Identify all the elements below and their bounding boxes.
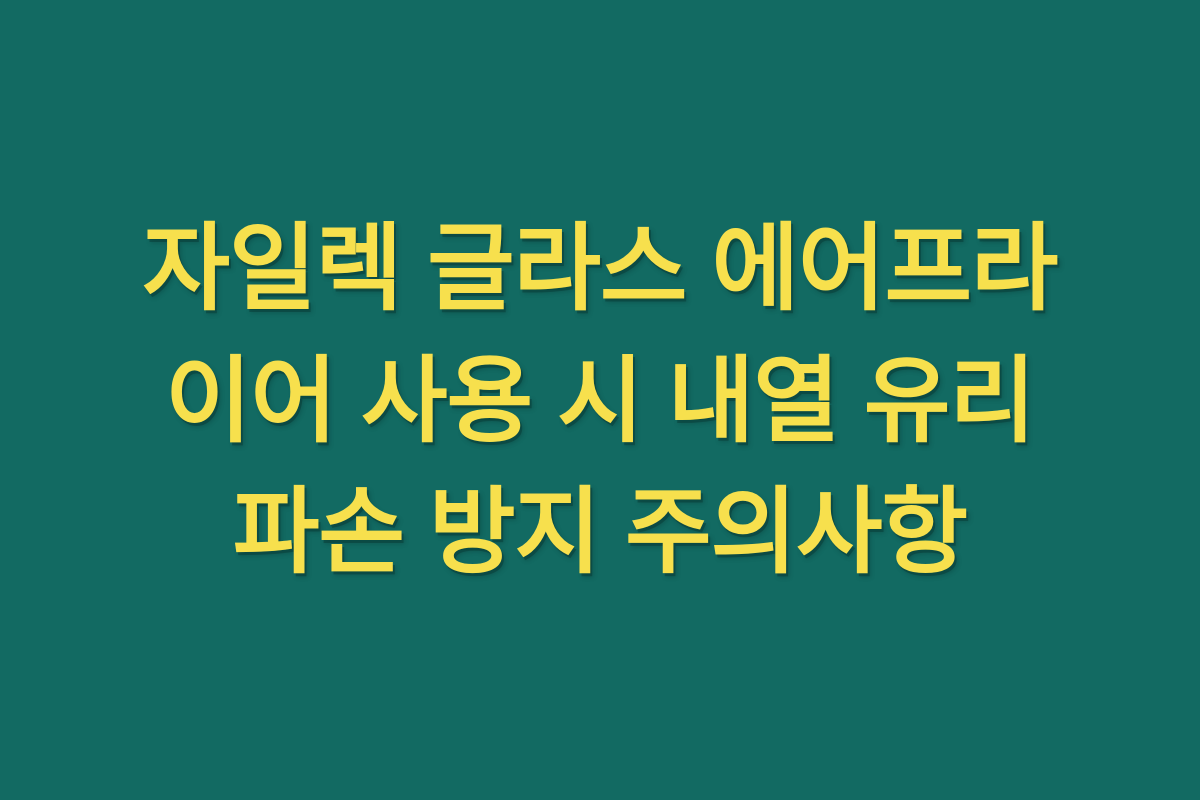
headline-line-2: 이어 사용 시 내열 유리: [40, 335, 1160, 466]
headline-line-1: 자일렉 글라스 에어프라: [40, 204, 1160, 335]
headline-text-block: 자일렉 글라스 에어프라 이어 사용 시 내열 유리 파손 방지 주의사항: [0, 0, 1200, 800]
headline-line-3: 파손 방지 주의사항: [40, 466, 1160, 597]
thumbnail-canvas: 자일렉 글라스 에어프라 이어 사용 시 내열 유리 파손 방지 주의사항: [0, 0, 1200, 800]
